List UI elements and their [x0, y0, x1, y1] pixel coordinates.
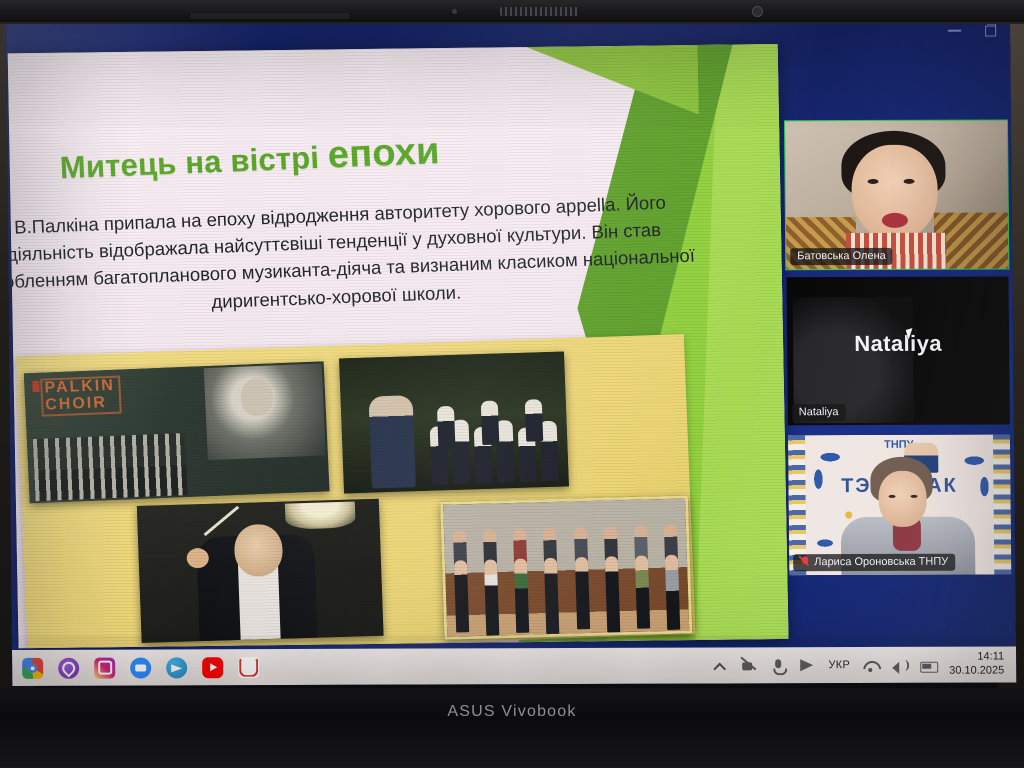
- participant-name-text: Nataliya: [799, 406, 839, 418]
- shared-screen-slide: Митець на вістрі епохи ь В.Палкіна припа…: [8, 44, 789, 648]
- camera-indicator-dot: [452, 9, 457, 14]
- youtube-icon[interactable]: [202, 657, 223, 678]
- taskbar-app-icons: [12, 657, 259, 679]
- laptop-top-bezel: [0, 0, 1024, 24]
- participant-name-text: Лариса Ороновська ТНПУ: [814, 556, 948, 568]
- instagram-icon[interactable]: [94, 657, 115, 678]
- slide-screen-moire: [8, 44, 789, 648]
- participant-name-label: Лариса Ороновська ТНПУ: [793, 554, 955, 572]
- show-hidden-icons-chevron-icon[interactable]: [712, 657, 729, 674]
- laptop-photo: Митець на вістрі епохи ь В.Палкіна припа…: [0, 0, 1024, 768]
- laptop-bottom-bezel: [0, 688, 1024, 768]
- wifi-icon[interactable]: [862, 656, 879, 673]
- location-icon[interactable]: [799, 657, 816, 674]
- microphone-muted-icon: [800, 556, 810, 568]
- volume-icon[interactable]: [891, 656, 908, 673]
- participant-avatar-placeholder: Nataliya: [787, 330, 1009, 357]
- restore-window-icon[interactable]: [983, 23, 996, 36]
- mouse-cursor-icon: [906, 328, 916, 340]
- laptop-screen: Митець на вістрі епохи ь В.Палкіна припа…: [6, 20, 1016, 685]
- participant-tile-batovska[interactable]: Батовська Олена: [785, 121, 1008, 270]
- microphone-grill: [500, 7, 578, 16]
- chrome-icon[interactable]: [22, 657, 43, 678]
- participant-name-label: Nataliya: [792, 404, 846, 421]
- participant-tile-oronovska[interactable]: ТНПУ ТЭТА ФАК Лариса Ороновська ТНПУ: [788, 434, 1011, 575]
- viber-icon[interactable]: [58, 657, 79, 678]
- battery-icon[interactable]: [920, 656, 937, 673]
- mail-icon[interactable]: [238, 657, 259, 678]
- participant-name-label: Батовська Олена: [790, 248, 893, 265]
- webcam-icon: [752, 6, 763, 17]
- minimize-icon[interactable]: [948, 23, 961, 36]
- laptop-brand-label: ASUS Vivobook: [0, 703, 1024, 721]
- participant-name-text: Батовська Олена: [797, 250, 886, 262]
- lid-vent: [190, 13, 350, 19]
- clock[interactable]: 14:11 30.10.2025: [949, 651, 1004, 678]
- microphone-icon[interactable]: [770, 657, 787, 674]
- camera-off-icon[interactable]: [741, 657, 758, 674]
- zoom-icon[interactable]: [130, 657, 151, 678]
- system-tray: УКР 14:11 30.10.2025: [712, 651, 1016, 679]
- windows-taskbar: УКР 14:11 30.10.2025: [12, 646, 1016, 686]
- telegram-icon[interactable]: [166, 657, 187, 678]
- window-controls[interactable]: [948, 23, 996, 36]
- participant-strip: Батовська Олена Nataliya Nataliya ТНПУ Т…: [785, 121, 1011, 584]
- participant-tile-nataliya[interactable]: Nataliya Nataliya: [786, 276, 1009, 425]
- clock-time: 14:11: [949, 651, 1004, 665]
- clock-date: 30.10.2025: [949, 665, 1004, 679]
- language-indicator[interactable]: УКР: [828, 659, 850, 671]
